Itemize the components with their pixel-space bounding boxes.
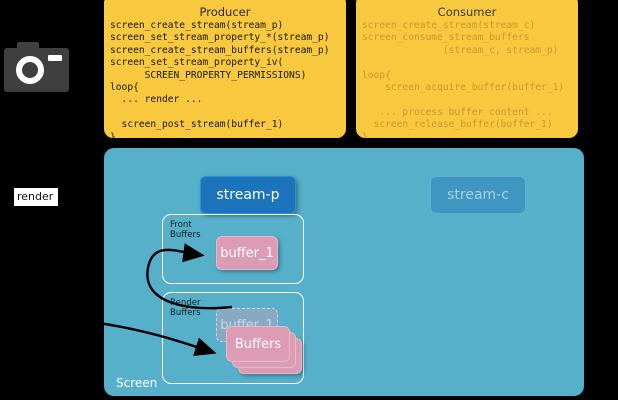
camera-flash-icon bbox=[48, 55, 62, 61]
render-label: render bbox=[14, 188, 58, 206]
screen-container: stream-p stream-c Front Buffers Render B… bbox=[104, 148, 584, 396]
front-buffer-chip[interactable]: buffer_1 bbox=[216, 236, 278, 270]
screen-label: Screen bbox=[116, 376, 157, 390]
render-buffers-stack[interactable]: Buffers bbox=[226, 326, 304, 376]
render-buffers-label: Render Buffers bbox=[170, 298, 201, 318]
diagram-canvas: render Producer screen_create_stream(str… bbox=[0, 0, 618, 400]
stream-p-box[interactable]: stream-p bbox=[200, 176, 296, 214]
consumer-title: Consumer bbox=[356, 5, 578, 19]
consumer-code: screen_create_stream(stream_c) screen_co… bbox=[356, 20, 578, 138]
camera-hump bbox=[17, 42, 39, 50]
buffer-stack-layer-1: Buffers bbox=[226, 326, 290, 362]
producer-box: Producer screen_create_stream(stream_p) … bbox=[104, 0, 346, 138]
camera-lens-icon bbox=[16, 56, 44, 84]
camera-icon bbox=[4, 48, 69, 92]
front-buffers-label: Front Buffers bbox=[170, 220, 201, 240]
stream-c-box[interactable]: stream-c bbox=[430, 176, 526, 214]
producer-title: Producer bbox=[104, 5, 346, 19]
consumer-box: Consumer screen_create_stream(stream_c) … bbox=[356, 0, 578, 138]
producer-code: screen_create_stream(stream_p) screen_se… bbox=[104, 20, 346, 138]
